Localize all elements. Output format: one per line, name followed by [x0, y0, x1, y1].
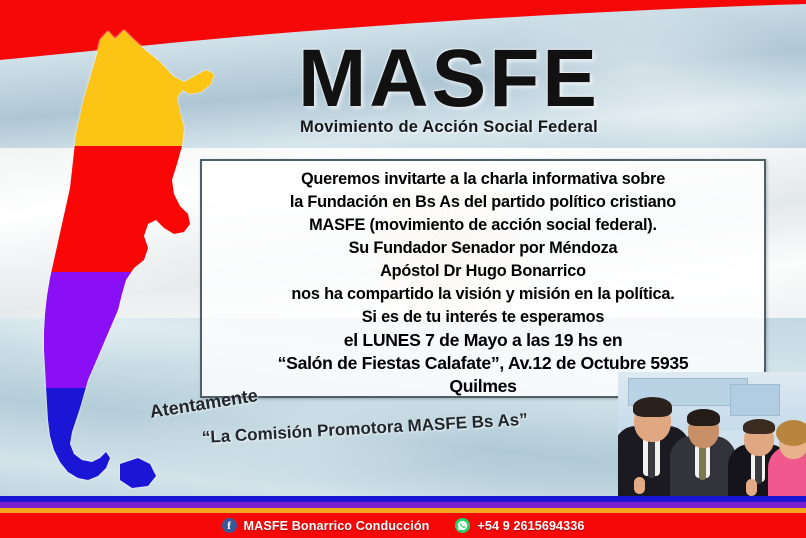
masfe-event-flyer: MASFE Movimiento de Acción Social Federa…	[0, 0, 806, 538]
photo-person-thumbs-up	[634, 477, 645, 494]
message-line: Queremos invitarte a la charla informati…	[301, 168, 665, 191]
photo-person-hair	[776, 420, 806, 446]
invitation-message-box: Queremos invitarte a la charla informati…	[200, 159, 766, 398]
whatsapp-contact[interactable]: +54 9 2615694336	[455, 518, 584, 533]
photo-person-tie	[648, 438, 655, 478]
event-city-line: Quilmes	[449, 375, 516, 398]
photo-person-hair	[687, 409, 720, 426]
photo-person-thumbs-up	[746, 479, 757, 496]
page-subtitle: Movimiento de Acción Social Federal	[300, 118, 598, 137]
whatsapp-label: +54 9 2615694336	[477, 519, 584, 533]
photo-person-hair	[633, 397, 672, 417]
message-line: Apóstol Dr Hugo Bonarrico	[380, 260, 586, 283]
photo-person-tie	[699, 446, 706, 480]
message-line: nos ha compartido la visión y misión en …	[291, 283, 674, 306]
facebook-label: MASFE Bonarrico Conducción	[244, 519, 430, 533]
facebook-icon[interactable]: f	[222, 518, 237, 533]
message-line: MASFE (movimiento de acción social feder…	[309, 214, 657, 237]
event-datetime-line: el LUNES 7 de Mayo a las 19 hs en	[344, 329, 623, 352]
group-photo	[618, 372, 806, 498]
facebook-contact[interactable]: f MASFE Bonarrico Conducción	[222, 518, 430, 533]
argentina-map-icon	[14, 28, 229, 498]
message-line: Su Fundador Senador por Méndoza	[349, 237, 618, 260]
message-line: la Fundación en Bs As del partido políti…	[290, 191, 676, 214]
page-title: MASFE	[298, 38, 600, 120]
whatsapp-icon[interactable]	[455, 518, 470, 533]
photo-person-2	[670, 400, 736, 498]
message-line: Si es de tu interés te esperamos	[362, 306, 604, 329]
photo-person-tie	[755, 454, 762, 484]
contact-footer-bar: f MASFE Bonarrico Conducción +54 9 26156…	[0, 513, 806, 538]
photo-person-4	[768, 414, 806, 498]
